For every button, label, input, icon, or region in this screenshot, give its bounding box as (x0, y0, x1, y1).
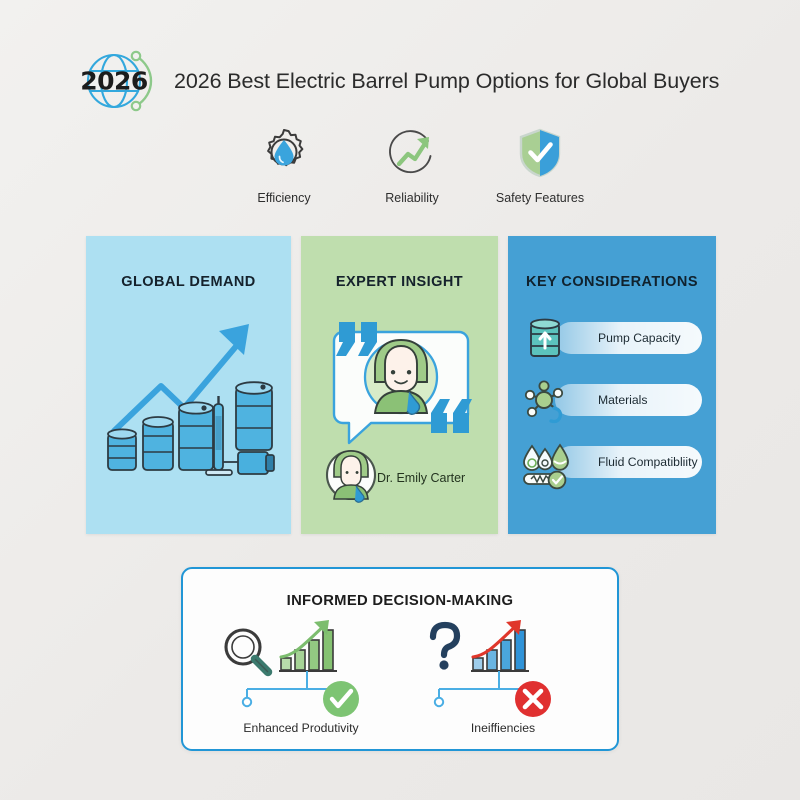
infographic-canvas: 2026 2026 Best Electric Barrel Pump Opti… (0, 0, 800, 800)
shield-check-icon (512, 125, 568, 181)
feature-reliability: Reliability (356, 125, 468, 205)
feature-safety: Safety Features (484, 125, 596, 205)
informed-decision-card: INFORMED DECISION-MAKING (181, 567, 619, 751)
key-consideration-label: Materials (598, 384, 647, 416)
gear-droplet-icon (256, 125, 312, 181)
panel-expert-insight: EXPERT INSIGHT (301, 236, 498, 534)
outcome-negative: Ineiffiencies (403, 617, 603, 735)
feature-row: Efficiency Reliability Safety Features (228, 125, 596, 205)
feature-label: Safety Features (496, 191, 584, 205)
growth-arrow-circle-icon (384, 125, 440, 181)
year-badge: 2026 (78, 44, 162, 118)
panel-title: KEY CONSIDERATIONS (508, 274, 716, 290)
droplets-test-strip-icon (522, 440, 572, 490)
feature-efficiency: Efficiency (228, 125, 340, 205)
molecule-wrench-icon (522, 378, 568, 424)
expert-name: Dr. Emily Carter (377, 471, 465, 485)
key-consideration-label: Pump Capacity (598, 322, 681, 354)
magnifier-growth-bars-icon (201, 617, 401, 717)
feature-label: Reliability (385, 191, 439, 205)
key-consideration-label: Fluid Compatibliity (598, 446, 698, 478)
panel-key-considerations: KEY CONSIDERATIONS Pump Capacity (508, 236, 716, 534)
key-consideration-item[interactable]: Pump Capacity (522, 322, 702, 354)
question-mark-bars-icon (403, 617, 603, 717)
badge-year-text: 2026 (78, 67, 150, 96)
outcome-label: Ineiffiencies (403, 721, 603, 735)
key-consideration-item[interactable]: Fluid Compatibliity (522, 446, 702, 478)
page-title: 2026 Best Electric Barrel Pump Options f… (174, 69, 719, 94)
feature-label: Efficiency (257, 191, 310, 205)
rising-arrow-with-barrels-and-pump-illustration (86, 236, 291, 534)
expert-attribution: Dr. Emily Carter (319, 454, 465, 502)
card-title: INFORMED DECISION-MAKING (183, 593, 617, 609)
key-consideration-item[interactable]: Materials (522, 384, 702, 416)
header: 2026 2026 Best Electric Barrel Pump Opti… (78, 44, 718, 118)
outcome-positive: Enhanced Produtivity (201, 617, 401, 735)
outcome-label: Enhanced Produtivity (201, 721, 401, 735)
panel-global-demand: GLOBAL DEMAND (86, 236, 291, 534)
barrel-arrow-icon (522, 316, 568, 362)
